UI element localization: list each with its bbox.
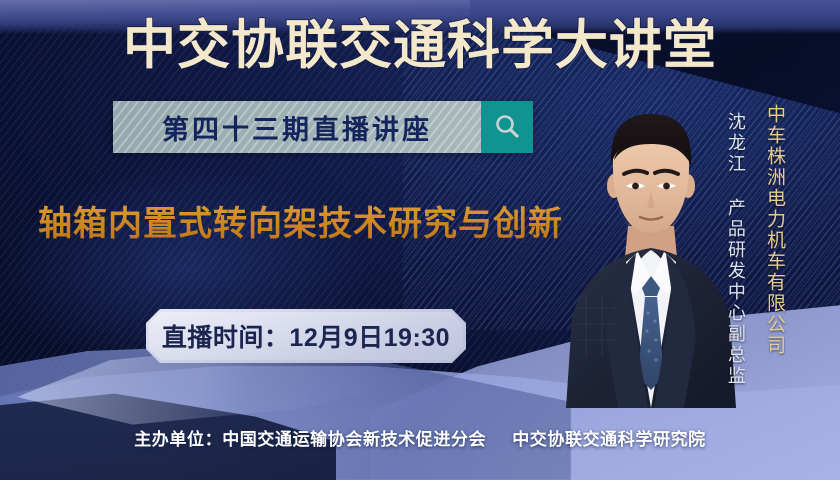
lecture-topic: 轴箱内置式转向架技术研究与创新 (38, 196, 563, 245)
speaker-company: 中车株洲电力机车有限公司 (764, 104, 784, 356)
session-bar-text-area: 第四十三期直播讲座 (113, 101, 481, 153)
session-label: 第四十三期直播讲座 (162, 108, 432, 147)
session-bar: 第四十三期直播讲座 (113, 101, 533, 153)
search-icon (492, 112, 522, 142)
footer-organizer-1: 中国交通运输协会新技术促进分会 (222, 430, 486, 449)
footer-organizers: 主办单位：中国交通运输协会新技术促进分会中交协联交通科学研究院 (0, 425, 840, 450)
footer-organizer-2: 中交协联交通科学研究院 (512, 430, 706, 449)
broadcast-time-badge: 直播时间：12月9日19:30 (146, 309, 466, 363)
speaker-portrait (556, 108, 746, 408)
footer-prefix: 主办单位： (134, 430, 222, 449)
speaker-name-title: 沈龙江 产品研发中心副总监 (726, 112, 745, 387)
search-icon-tile[interactable] (481, 101, 533, 153)
page-title: 中交协联交通科学大讲堂 (0, 18, 840, 74)
broadcast-time-label: 直播时间：12月9日19:30 (162, 318, 450, 354)
live-stream-poster: 中交协联交通科学大讲堂 第四十三期直播讲座 轴箱内置式转向架技术研究与创新 直播… (0, 0, 840, 480)
